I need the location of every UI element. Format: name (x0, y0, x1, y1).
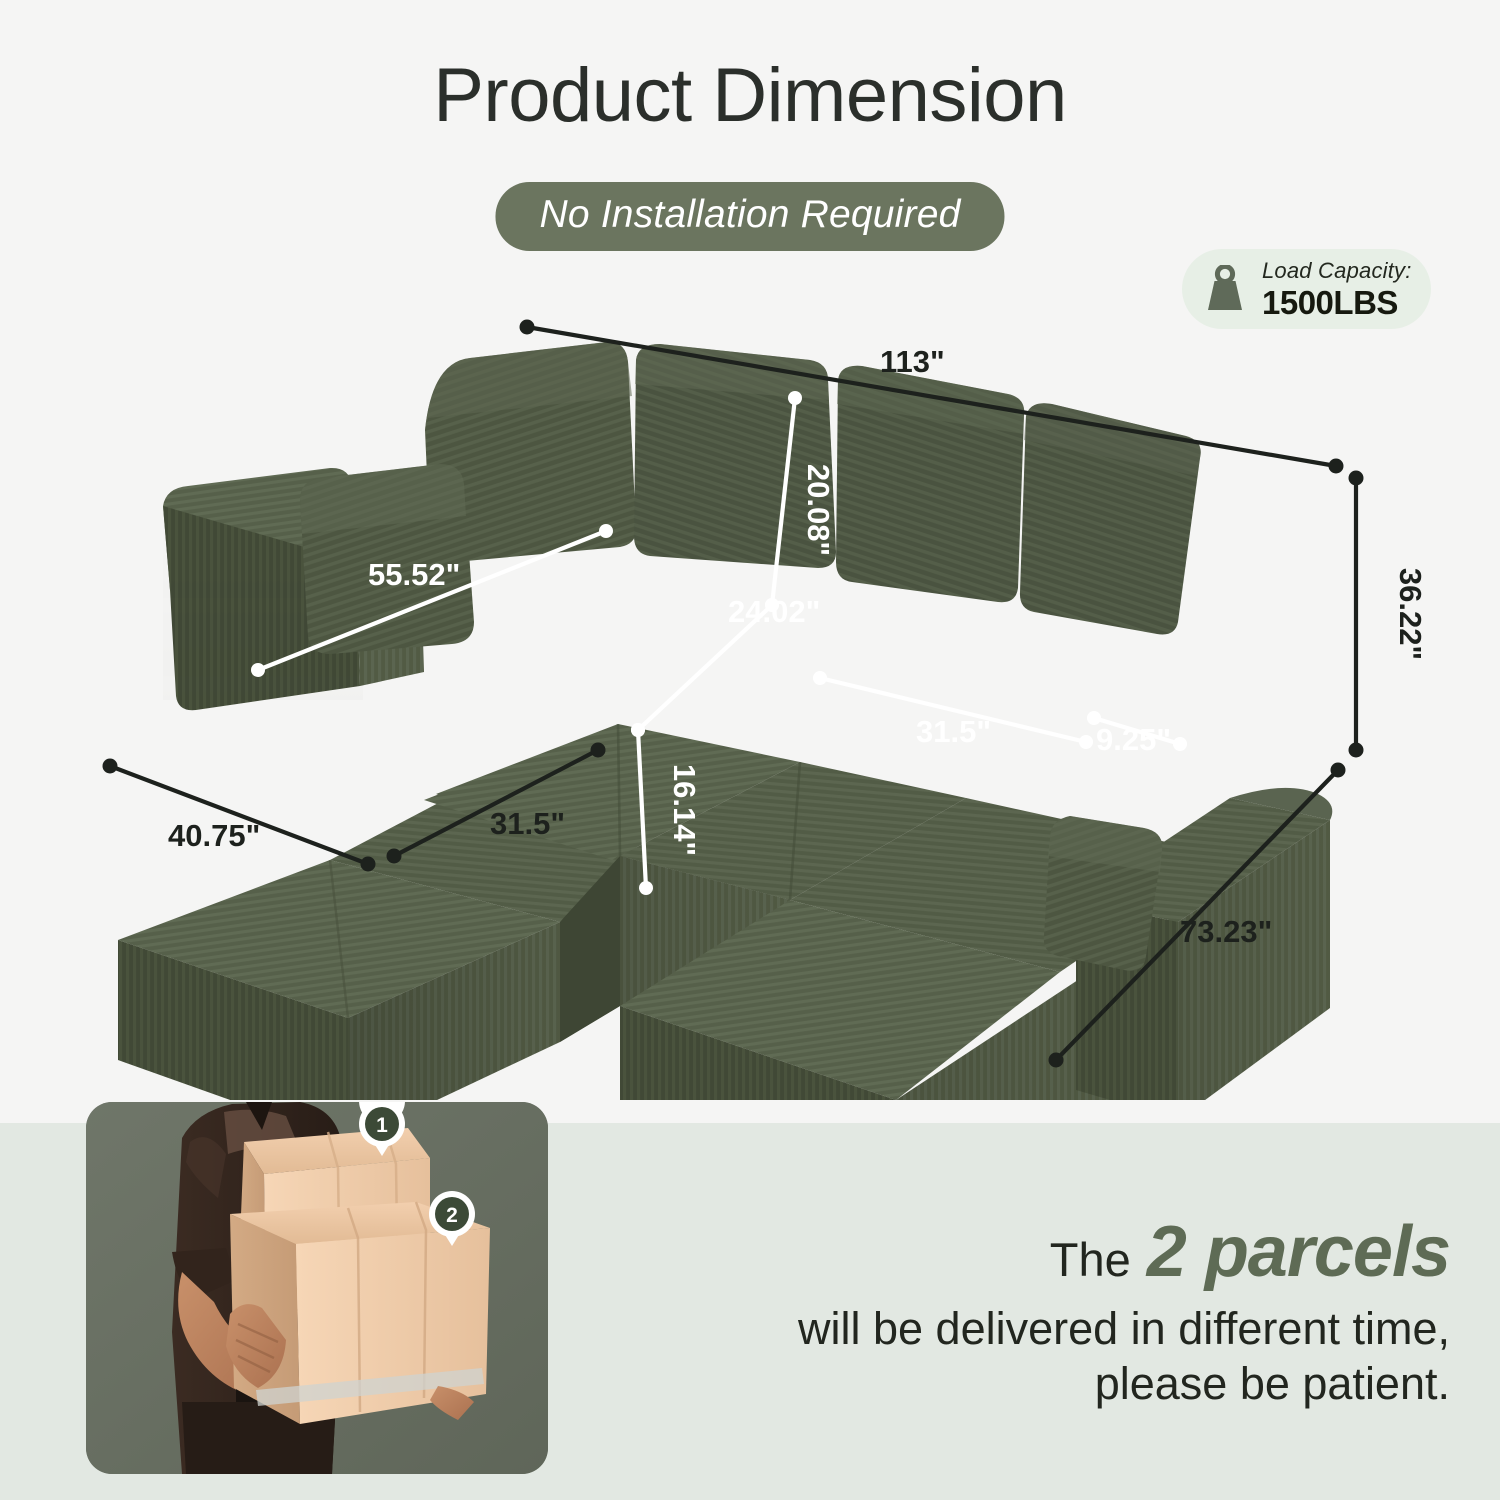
dim-label-seat-depth-center: 24.02" (728, 594, 820, 629)
page-title: Product Dimension (0, 52, 1500, 139)
parcel-count-highlight: 2 parcels (1147, 1216, 1450, 1288)
dim-label-back-cushion-height: 20.08" (801, 464, 836, 556)
dim-seat-width-right: 31.5" (813, 671, 1093, 749)
parcel-text-line3: please be patient. (660, 1357, 1450, 1412)
sofa-illustration: 113" 20.08" 55.52" 24.02" 16 (0, 300, 1500, 1100)
pin-1-label: 1 (376, 1114, 388, 1137)
delivery-photo: 1 2 (86, 1102, 548, 1474)
dim-label-arm-width: 9.25" (1096, 722, 1171, 757)
dim-label-seat-depth-left: 55.52" (368, 557, 460, 592)
parcel-text-the: The (1050, 1236, 1131, 1283)
dim-overall-height: 36.22" (1349, 471, 1429, 758)
dim-arm-width: 9.25" (1087, 711, 1187, 757)
parcel-text-line2: will be delivered in different time, (660, 1302, 1450, 1357)
dim-label-module-depth-left: 31.5" (490, 806, 565, 841)
dim-chaise-width: 40.75" (103, 759, 376, 872)
no-installation-badge: No Installation Required (495, 182, 1004, 251)
dim-label-overall-depth: 73.23" (1180, 914, 1272, 949)
dim-label-overall-height: 36.22" (1393, 568, 1428, 660)
delivery-person-image: 1 2 (86, 1102, 548, 1474)
sofa-diagram: 113" 20.08" 55.52" 24.02" 16 (0, 300, 1500, 1100)
dim-label-seat-height: 16.14" (667, 764, 702, 856)
dim-label-seat-width-right: 31.5" (916, 714, 991, 749)
dim-label-overall-width: 113" (880, 344, 945, 379)
dim-label-chaise-width: 40.75" (168, 818, 260, 853)
dim-seat-depth-center: 24.02" (631, 594, 820, 737)
parcel-message: The 2 parcels will be delivered in diffe… (660, 1216, 1450, 1412)
load-capacity-label: Load Capacity: (1262, 260, 1412, 282)
product-dimension-panel: Product Dimension No Installation Requir… (0, 0, 1500, 1123)
pin-2-label: 2 (446, 1204, 458, 1227)
